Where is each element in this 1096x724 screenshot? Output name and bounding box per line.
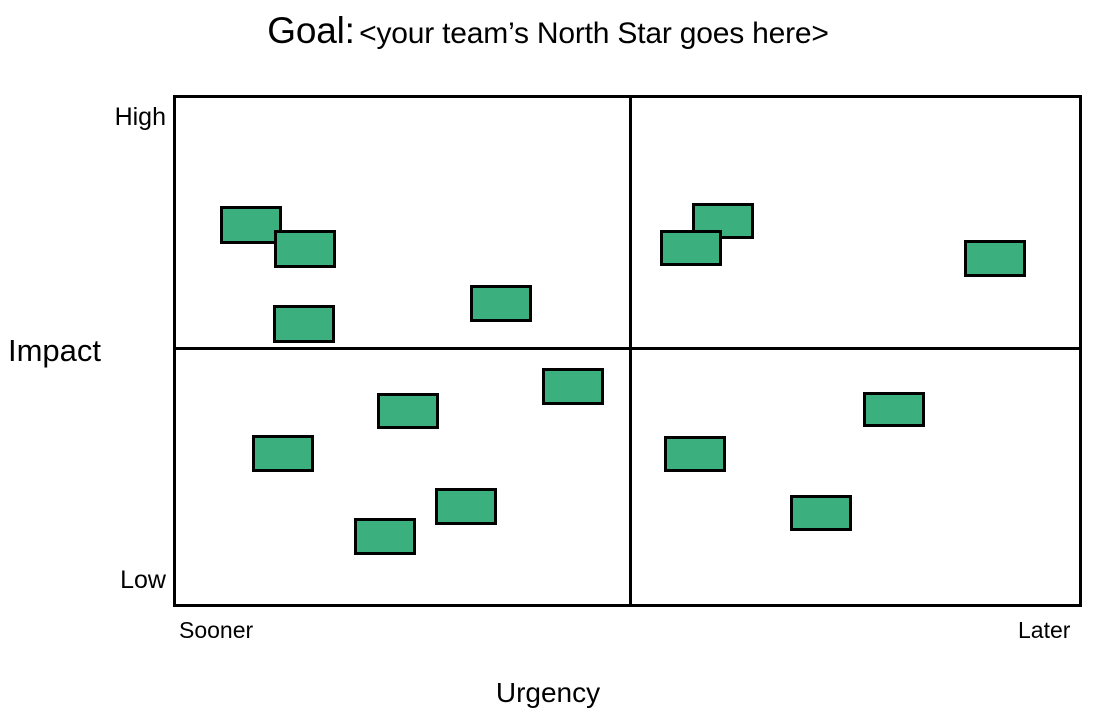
quadrant-divider-horizontal bbox=[176, 347, 1079, 350]
page-title: Goal: <your team’s North Star goes here> bbox=[0, 10, 1096, 52]
item-box[interactable] bbox=[274, 230, 336, 268]
title-goal-prefix: Goal: bbox=[267, 10, 354, 51]
y-axis-tick-high: High bbox=[115, 103, 166, 132]
x-axis-label: Urgency bbox=[0, 677, 1096, 709]
item-box[interactable] bbox=[220, 206, 282, 244]
quadrant-divider-vertical bbox=[629, 98, 632, 604]
priority-matrix-plot-area bbox=[173, 95, 1082, 607]
item-box[interactable] bbox=[863, 392, 925, 427]
item-box[interactable] bbox=[470, 285, 532, 322]
item-box[interactable] bbox=[354, 518, 416, 555]
y-axis-label: Impact bbox=[8, 333, 101, 369]
item-box[interactable] bbox=[660, 230, 722, 266]
item-box[interactable] bbox=[664, 436, 726, 472]
item-box[interactable] bbox=[377, 393, 439, 429]
item-box[interactable] bbox=[964, 240, 1026, 277]
item-box[interactable] bbox=[542, 368, 604, 405]
item-box[interactable] bbox=[435, 488, 497, 525]
x-axis-tick-later: Later bbox=[1018, 617, 1070, 644]
x-axis-tick-sooner: Sooner bbox=[179, 617, 253, 644]
item-box[interactable] bbox=[273, 305, 335, 343]
item-box[interactable] bbox=[790, 495, 852, 531]
item-box[interactable] bbox=[252, 435, 314, 472]
y-axis-tick-low: Low bbox=[120, 566, 166, 595]
title-goal-placeholder: <your team’s North Star goes here> bbox=[359, 17, 829, 50]
